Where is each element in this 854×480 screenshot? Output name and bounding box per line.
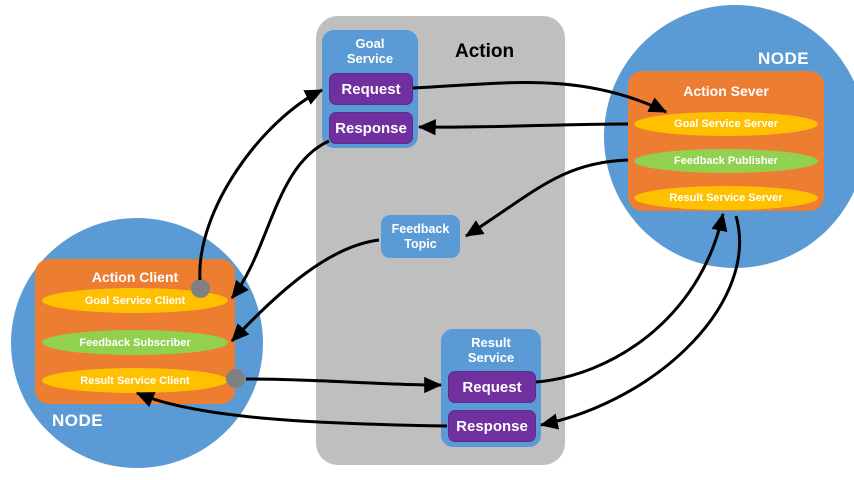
diagram-canvas: Action Goal Service Request Response Fee…	[0, 0, 854, 480]
arrow-server-goal-to-response	[419, 124, 628, 127]
connection-arrows	[0, 0, 854, 480]
arrow-feedback-topic-to-subscriber	[232, 240, 379, 341]
arrow-result-request-to-server	[536, 214, 723, 382]
arrow-server-result-to-response	[541, 216, 740, 425]
arrow-feedback-publisher-to-topic	[466, 160, 628, 236]
arrow-response-to-client-goal	[232, 141, 329, 298]
arrow-client-goal-to-request	[200, 90, 322, 280]
arrow-result-response-to-client	[137, 393, 447, 426]
arrow-client-result-to-request	[246, 379, 441, 385]
arrow-request-to-server-goal	[413, 83, 666, 112]
